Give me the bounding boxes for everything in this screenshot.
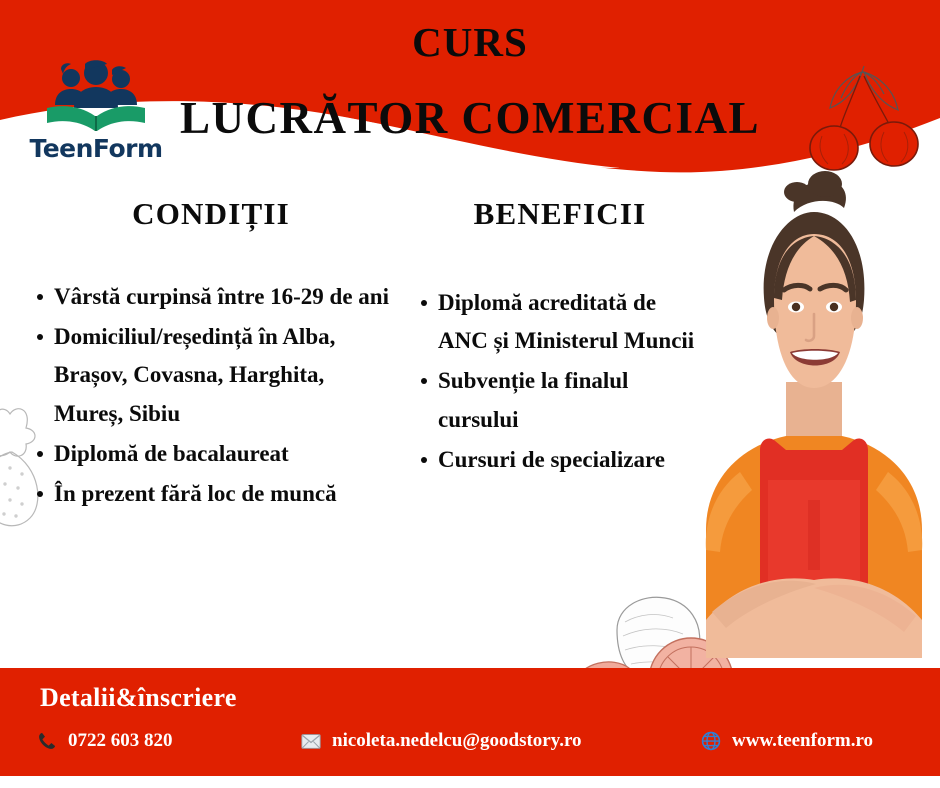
page-title-line1: CURS <box>0 18 940 66</box>
footer-title: Detalii&înscriere <box>40 683 237 713</box>
contact-footer: Detalii&înscriere 0722 603 820 nicoleta.… <box>0 668 940 776</box>
benefits-heading: BENEFICII <box>410 196 710 232</box>
page-title-line2: LUCRĂTOR COMERCIAL <box>0 92 940 144</box>
list-item: Vârstă curpinsă între 16-29 de ani <box>54 278 396 316</box>
benefits-list: Diplomă acreditată de ANC și Ministerul … <box>410 284 710 479</box>
globe-icon <box>700 730 722 752</box>
email-address: nicoleta.nedelcu@goodstory.ro <box>332 730 582 752</box>
phone-icon <box>36 730 58 752</box>
phone-number: 0722 603 820 <box>68 730 173 752</box>
smiling-shop-worker-photo <box>682 150 940 658</box>
website-url: www.teenform.ro <box>732 730 873 752</box>
benefits-column: BENEFICII Diplomă acreditată de ANC și M… <box>410 196 710 481</box>
conditions-list: Vârstă curpinsă între 16-29 de ani Domic… <box>26 278 396 513</box>
list-item: Diplomă de bacalaureat <box>54 435 396 473</box>
conditions-heading: CONDIȚII <box>26 196 396 232</box>
list-item: Diplomă acreditată de ANC și Ministerul … <box>438 284 710 360</box>
list-item: Subvenție la finalul cursului <box>438 362 710 438</box>
flyer-poster: TeenForm CURS LUCRĂTOR COMERCIAL <box>0 0 940 788</box>
contact-row: 0722 603 820 nicoleta.nedelcu@goodstory.… <box>0 730 940 764</box>
contact-phone[interactable]: 0722 603 820 <box>36 730 173 752</box>
list-item: Domiciliul/reședință în Alba, Brașov, Co… <box>54 318 396 433</box>
list-item: În prezent fără loc de muncă <box>54 475 396 513</box>
contact-website[interactable]: www.teenform.ro <box>700 730 873 752</box>
list-item: Cursuri de specializare <box>438 441 710 479</box>
contact-email[interactable]: nicoleta.nedelcu@goodstory.ro <box>300 730 582 752</box>
conditions-column: CONDIȚII Vârstă curpinsă între 16-29 de … <box>26 196 396 515</box>
envelope-icon <box>300 730 322 752</box>
